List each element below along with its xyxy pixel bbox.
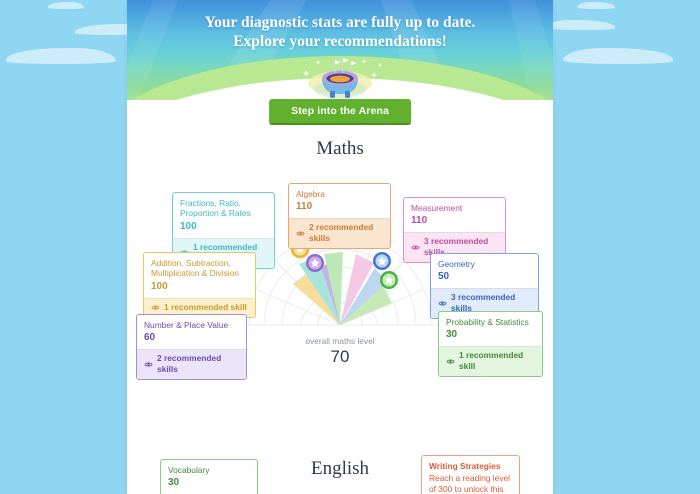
skill-card-score: 110 xyxy=(296,200,383,213)
skill-card-score: 50 xyxy=(438,270,531,283)
tag-icon xyxy=(411,243,420,252)
arena-stadium-icon xyxy=(292,56,388,100)
skill-card-score: 30 xyxy=(168,476,250,489)
skill-card-title: Vocabulary xyxy=(168,465,250,475)
skill-card-title: Probability & Statistics xyxy=(446,317,535,327)
skill-card-recommendation[interactable]: 2 recommended skills xyxy=(289,218,390,248)
skill-card-score: 100 xyxy=(151,280,248,293)
skill-card-recommendation[interactable]: 1 recommended skill xyxy=(439,346,542,376)
skill-card[interactable]: Probability & Statistics301 recommended … xyxy=(438,311,543,377)
skill-card-title: Measurement xyxy=(411,203,498,213)
cloud-icon xyxy=(563,48,673,64)
skill-card[interactable]: Writing StrategiesReach a reading level … xyxy=(421,455,520,494)
skill-card-locked-message: Reach a reading level of 300 to unlock t… xyxy=(429,473,512,494)
step-into-arena-button[interactable]: Step into the Arena xyxy=(269,99,411,125)
tag-icon xyxy=(438,299,447,308)
skill-card-title: Addition, Subtraction, Multiplication & … xyxy=(151,258,248,279)
overall-level-caption: overall maths level xyxy=(260,336,420,346)
cloud-icon xyxy=(545,20,615,30)
section-title-maths: Maths xyxy=(127,138,553,160)
tag-icon xyxy=(151,303,160,312)
skill-card[interactable]: Addition, Subtraction, Multiplication & … xyxy=(143,252,256,318)
tag-icon xyxy=(446,357,455,366)
hero-headline-line2: Explore your recommendations! xyxy=(127,32,553,51)
skill-card[interactable]: Vocabulary301 recommended skill xyxy=(160,459,258,494)
tag-icon xyxy=(296,229,305,238)
skill-card-recommendation-label: 1 recommended skill xyxy=(459,350,535,372)
skill-card[interactable]: Algebra1102 recommended skills xyxy=(288,183,391,249)
skill-card-score: 30 xyxy=(446,328,535,341)
skill-card[interactable]: Number & Place Value602 recommended skil… xyxy=(136,314,247,380)
skill-card-score: 110 xyxy=(411,214,498,227)
skill-card-score: 60 xyxy=(144,331,239,344)
overall-level-value: 70 xyxy=(260,347,420,367)
skill-card-recommendation[interactable]: 2 recommended skills xyxy=(137,349,246,379)
skill-card-score: 100 xyxy=(180,220,267,233)
skill-card-recommendation-label: 2 recommended skills xyxy=(309,222,383,244)
skill-card-title: Number & Place Value xyxy=(144,320,239,330)
cloud-icon xyxy=(48,2,84,9)
tag-icon xyxy=(144,360,153,369)
hero-headline: Your diagnostic stats are fully up to da… xyxy=(127,0,553,51)
overall-maths-level: overall maths level 70 xyxy=(260,336,420,367)
skill-card-recommendation-label: 2 recommended skills xyxy=(157,353,239,375)
cloud-icon xyxy=(6,48,116,64)
cloud-icon xyxy=(577,2,615,9)
hero-headline-line1: Your diagnostic stats are fully up to da… xyxy=(127,13,553,32)
skill-card-title: Writing Strategies xyxy=(429,461,512,472)
hero-banner: Your diagnostic stats are fully up to da… xyxy=(127,0,553,100)
skill-card-recommendation-label: 1 recommended skill xyxy=(164,302,247,313)
skill-card-title: Algebra xyxy=(296,189,383,199)
skill-card-title: Fractions, Ratio, Proportion & Rates xyxy=(180,198,267,219)
skill-card-title: Geometry xyxy=(438,259,531,269)
skill-card[interactable]: Geometry503 recommended skills xyxy=(430,253,539,319)
